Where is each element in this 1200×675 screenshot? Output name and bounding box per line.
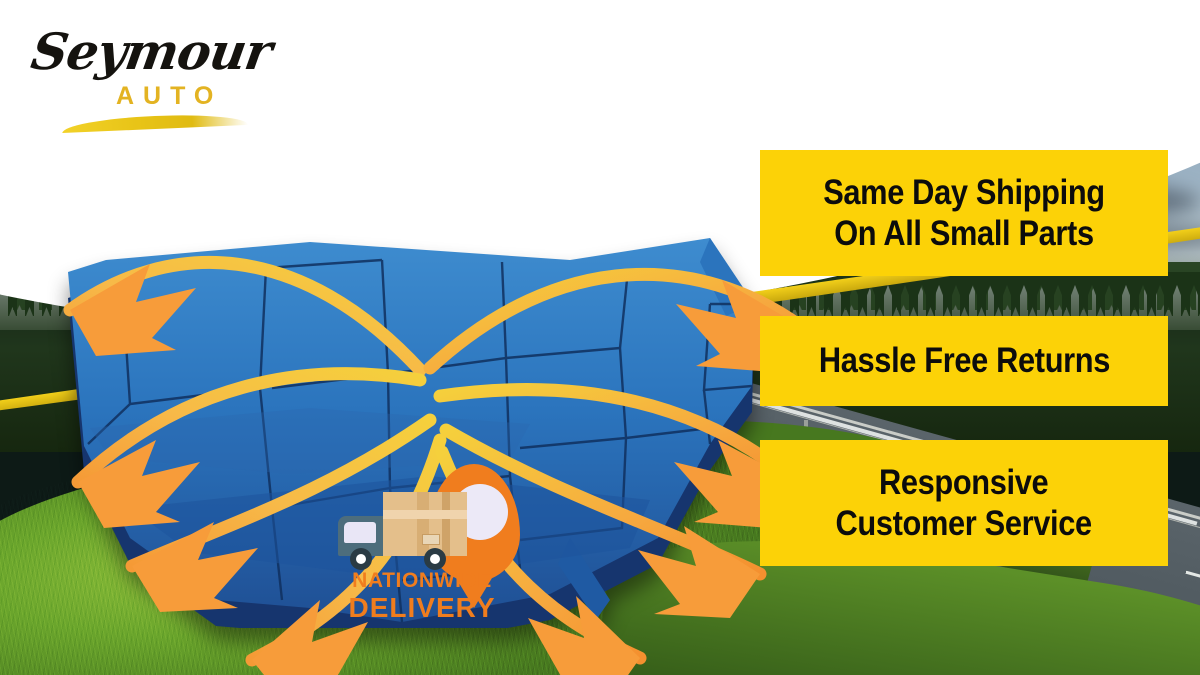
truck-wheel [424, 548, 446, 570]
cargo-label [422, 534, 440, 545]
brand-logo[interactable]: Seymour AUTO [28, 20, 268, 128]
brand-subname: AUTO [116, 82, 222, 111]
callout-same-day-shipping[interactable]: Same Day Shipping On All Small Parts [760, 150, 1168, 276]
brand-name: Seymour [27, 22, 275, 81]
truck-window [344, 522, 376, 543]
nationwide-map-graphic: NATIONWIDE DELIVERY [0, 190, 820, 660]
delivery-truck-icon [338, 488, 474, 570]
delivery-badge: NATIONWIDE DELIVERY [330, 462, 510, 642]
callout-text: Hassle Free Returns [818, 340, 1109, 381]
nationwide-label: NATIONWIDE [322, 570, 522, 591]
truck-wheel [350, 548, 372, 570]
callout-responsive-customer-service[interactable]: Responsive Customer Service [760, 440, 1168, 566]
callout-text: Same Day Shipping On All Small Parts [823, 172, 1105, 255]
callout-hassle-free-returns[interactable]: Hassle Free Returns [760, 316, 1168, 406]
cargo-strap [442, 492, 450, 556]
cargo-strap [383, 510, 467, 519]
promo-banner: Seymour AUTO [0, 0, 1200, 675]
cargo-strap [417, 492, 429, 556]
delivery-label: DELIVERY [322, 594, 522, 622]
callout-text: Responsive Customer Service [836, 462, 1092, 545]
